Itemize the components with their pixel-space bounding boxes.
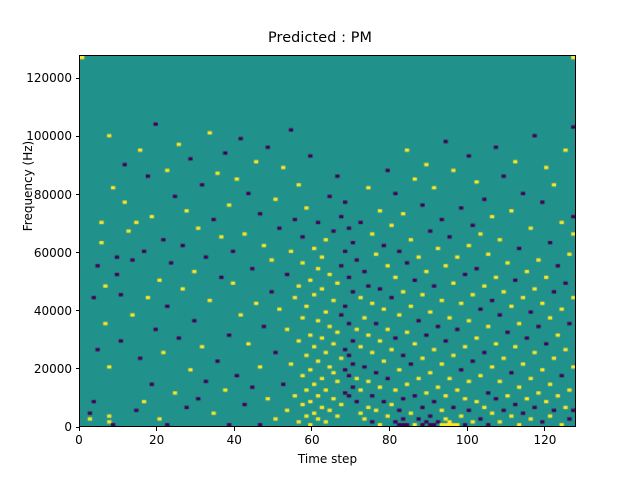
y-tick-label: 80000 (34, 187, 72, 203)
x-tick-mark (467, 427, 468, 431)
y-tick-mark (76, 310, 80, 311)
x-tick-label: 120 (515, 432, 575, 448)
y-tick-mark (76, 136, 80, 137)
heatmap-axes[interactable] (79, 55, 576, 427)
x-tick-label: 0 (49, 432, 109, 448)
y-tick-mark (76, 194, 80, 195)
x-tick-mark (311, 427, 312, 431)
x-tick-label: 40 (204, 432, 264, 448)
x-tick-mark (234, 427, 235, 431)
x-axis-label: Time step (79, 452, 576, 466)
x-tick-mark (389, 427, 390, 431)
y-tick-label: 60000 (34, 245, 72, 261)
x-tick-mark (79, 427, 80, 431)
x-tick-label: 60 (282, 432, 342, 448)
x-tick-mark (156, 427, 157, 431)
y-tick-mark (76, 78, 80, 79)
y-tick-label: 20000 (34, 361, 72, 377)
heatmap-image[interactable] (80, 56, 575, 426)
y-tick-label: 100000 (26, 128, 72, 144)
figure-canvas: Predicted : PM Frequency (Hz) Time step … (0, 0, 640, 480)
chart-title: Predicted : PM (0, 30, 640, 46)
y-tick-label: 40000 (34, 303, 72, 319)
x-tick-label: 100 (437, 432, 497, 448)
y-tick-mark (76, 252, 80, 253)
y-tick-label: 120000 (26, 70, 72, 86)
x-tick-mark (544, 427, 545, 431)
x-tick-label: 80 (360, 432, 420, 448)
y-tick-mark (76, 368, 80, 369)
x-tick-label: 20 (127, 432, 187, 448)
